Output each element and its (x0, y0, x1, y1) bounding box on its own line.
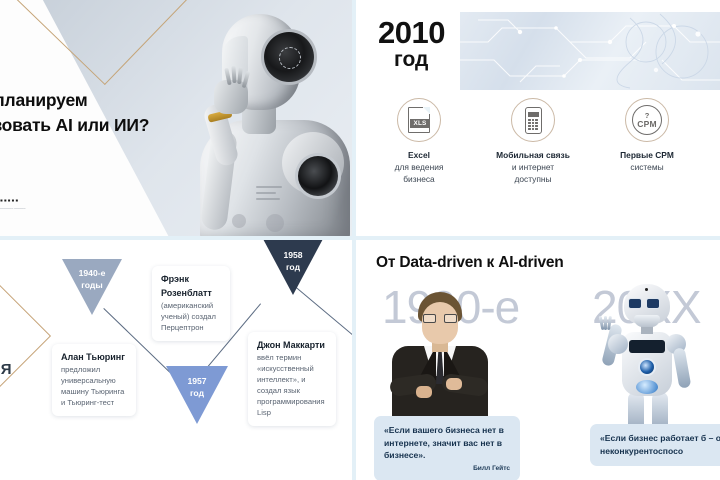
marker-label-line1: 1958 (262, 250, 324, 262)
slide-top-left[interactable]: мы планируем ользовать AI или ИИ? ▪▪▪▪▪ … (0, 0, 352, 236)
icon-sub-line1: базы д (704, 162, 720, 174)
quote-text: «Если вашего бизнеса нет в интернете, зн… (384, 424, 510, 462)
quote-text: «Если бизнес работает б – он неконкурент… (600, 432, 720, 457)
mobile-phone-icon (511, 98, 555, 142)
side-title-line-1: ы (0, 336, 50, 359)
icon-cell-excel[interactable]: XLS Excel для ведения бизнеса (362, 98, 476, 186)
white-robot-photo (586, 282, 706, 432)
icon-sub-line2: доступны (476, 174, 590, 186)
timeline-card-rosenblatt[interactable]: Фрэнк Розенблатт (американский ученый) с… (152, 266, 230, 341)
icon-title: Excel (362, 150, 476, 162)
icon-cell-mobile[interactable]: Мобильная связь и интернет доступны (476, 98, 590, 186)
card-body: предложил универсальную машину Тьюринга … (61, 365, 127, 409)
icon-title: Мобильная связь (476, 150, 590, 162)
timeline-marker-1940s[interactable]: 1940-е годы (62, 259, 122, 315)
crm-circle-icon: ?CPM (625, 98, 669, 142)
xls-glyph-label: XLS (410, 119, 430, 128)
card-title-line1: Фрэнк (161, 273, 221, 285)
card-title: Джон Маккарти (257, 339, 327, 351)
side-title-line-2: ития (0, 359, 50, 382)
icon-sub-line1: системы (590, 162, 704, 174)
year-number: 2010 (378, 15, 445, 51)
icon-sub-line2: бизнеса (362, 174, 476, 186)
icon-title: Пер (704, 150, 720, 162)
quote-author: Билл Гейтс (384, 465, 510, 472)
page-title: От Data-driven к AI-driven (376, 254, 564, 272)
icon-cell-database[interactable]: Пер базы д (704, 98, 720, 186)
circuit-board-banner (460, 12, 720, 90)
icon-cell-crm[interactable]: ?CPM Первые CPM системы (590, 98, 704, 186)
marker-label-line2: годы (62, 280, 122, 292)
card-body: (американский ученый) создал Перцептрон (161, 301, 221, 334)
marker-label-line1: 1940-е (62, 268, 122, 280)
headline-line-1: мы планируем (0, 88, 262, 113)
bill-gates-photo (384, 292, 496, 424)
card-body: ввёл термин «искусственный интеллект», и… (257, 353, 327, 419)
card-title: Алан Тьюринг (61, 351, 127, 363)
xls-file-icon: XLS (397, 98, 441, 142)
timeline-card-mccarthy[interactable]: Джон Маккарти ввёл термин «искусственный… (248, 332, 336, 426)
slide-bottom-right[interactable]: От Data-driven к AI-driven 1990-е 20XX (356, 240, 720, 480)
page-headline: мы планируем ользовать AI или ИИ? (0, 88, 262, 138)
icon-sub-line1: и интернет (476, 162, 590, 174)
icon-sub-line1: для ведения (362, 162, 476, 174)
year-label: год (394, 48, 428, 72)
slide-grid: мы планируем ользовать AI или ИИ? ▪▪▪▪▪ … (0, 0, 720, 480)
section-side-title: ы ития (0, 336, 50, 381)
slide-bottom-left[interactable]: ы ития 1940-е годы 1957 год 1 (0, 240, 352, 480)
quote-card-robot[interactable]: «Если бизнес работает б – он неконкурент… (590, 424, 720, 466)
marker-label-line2: год (262, 262, 324, 274)
card-title-line2: Розенблатт (161, 287, 221, 299)
bullet-dots: ▪▪▪▪▪ (0, 196, 19, 205)
quote-card-gates[interactable]: «Если вашего бизнеса нет в интернете, зн… (374, 416, 520, 480)
timeline-marker-1957[interactable]: 1957 год (166, 366, 228, 424)
slide-top-right[interactable]: 2010 год (356, 0, 720, 236)
icon-row: XLS Excel для ведения бизнеса Мобильная … (356, 98, 720, 186)
icon-title: Первые CPM (590, 150, 704, 162)
marker-label-line1: 1957 (166, 376, 228, 388)
marker-label-line2: год (166, 388, 228, 400)
footnote-microtext: ––––––– –––––– (0, 206, 78, 211)
timeline-marker-1958[interactable]: 1958 год (262, 240, 324, 295)
headline-line-2: ользовать AI или ИИ? (0, 113, 262, 138)
timeline-card-turing[interactable]: Алан Тьюринг предложил универсальную маш… (52, 344, 136, 416)
